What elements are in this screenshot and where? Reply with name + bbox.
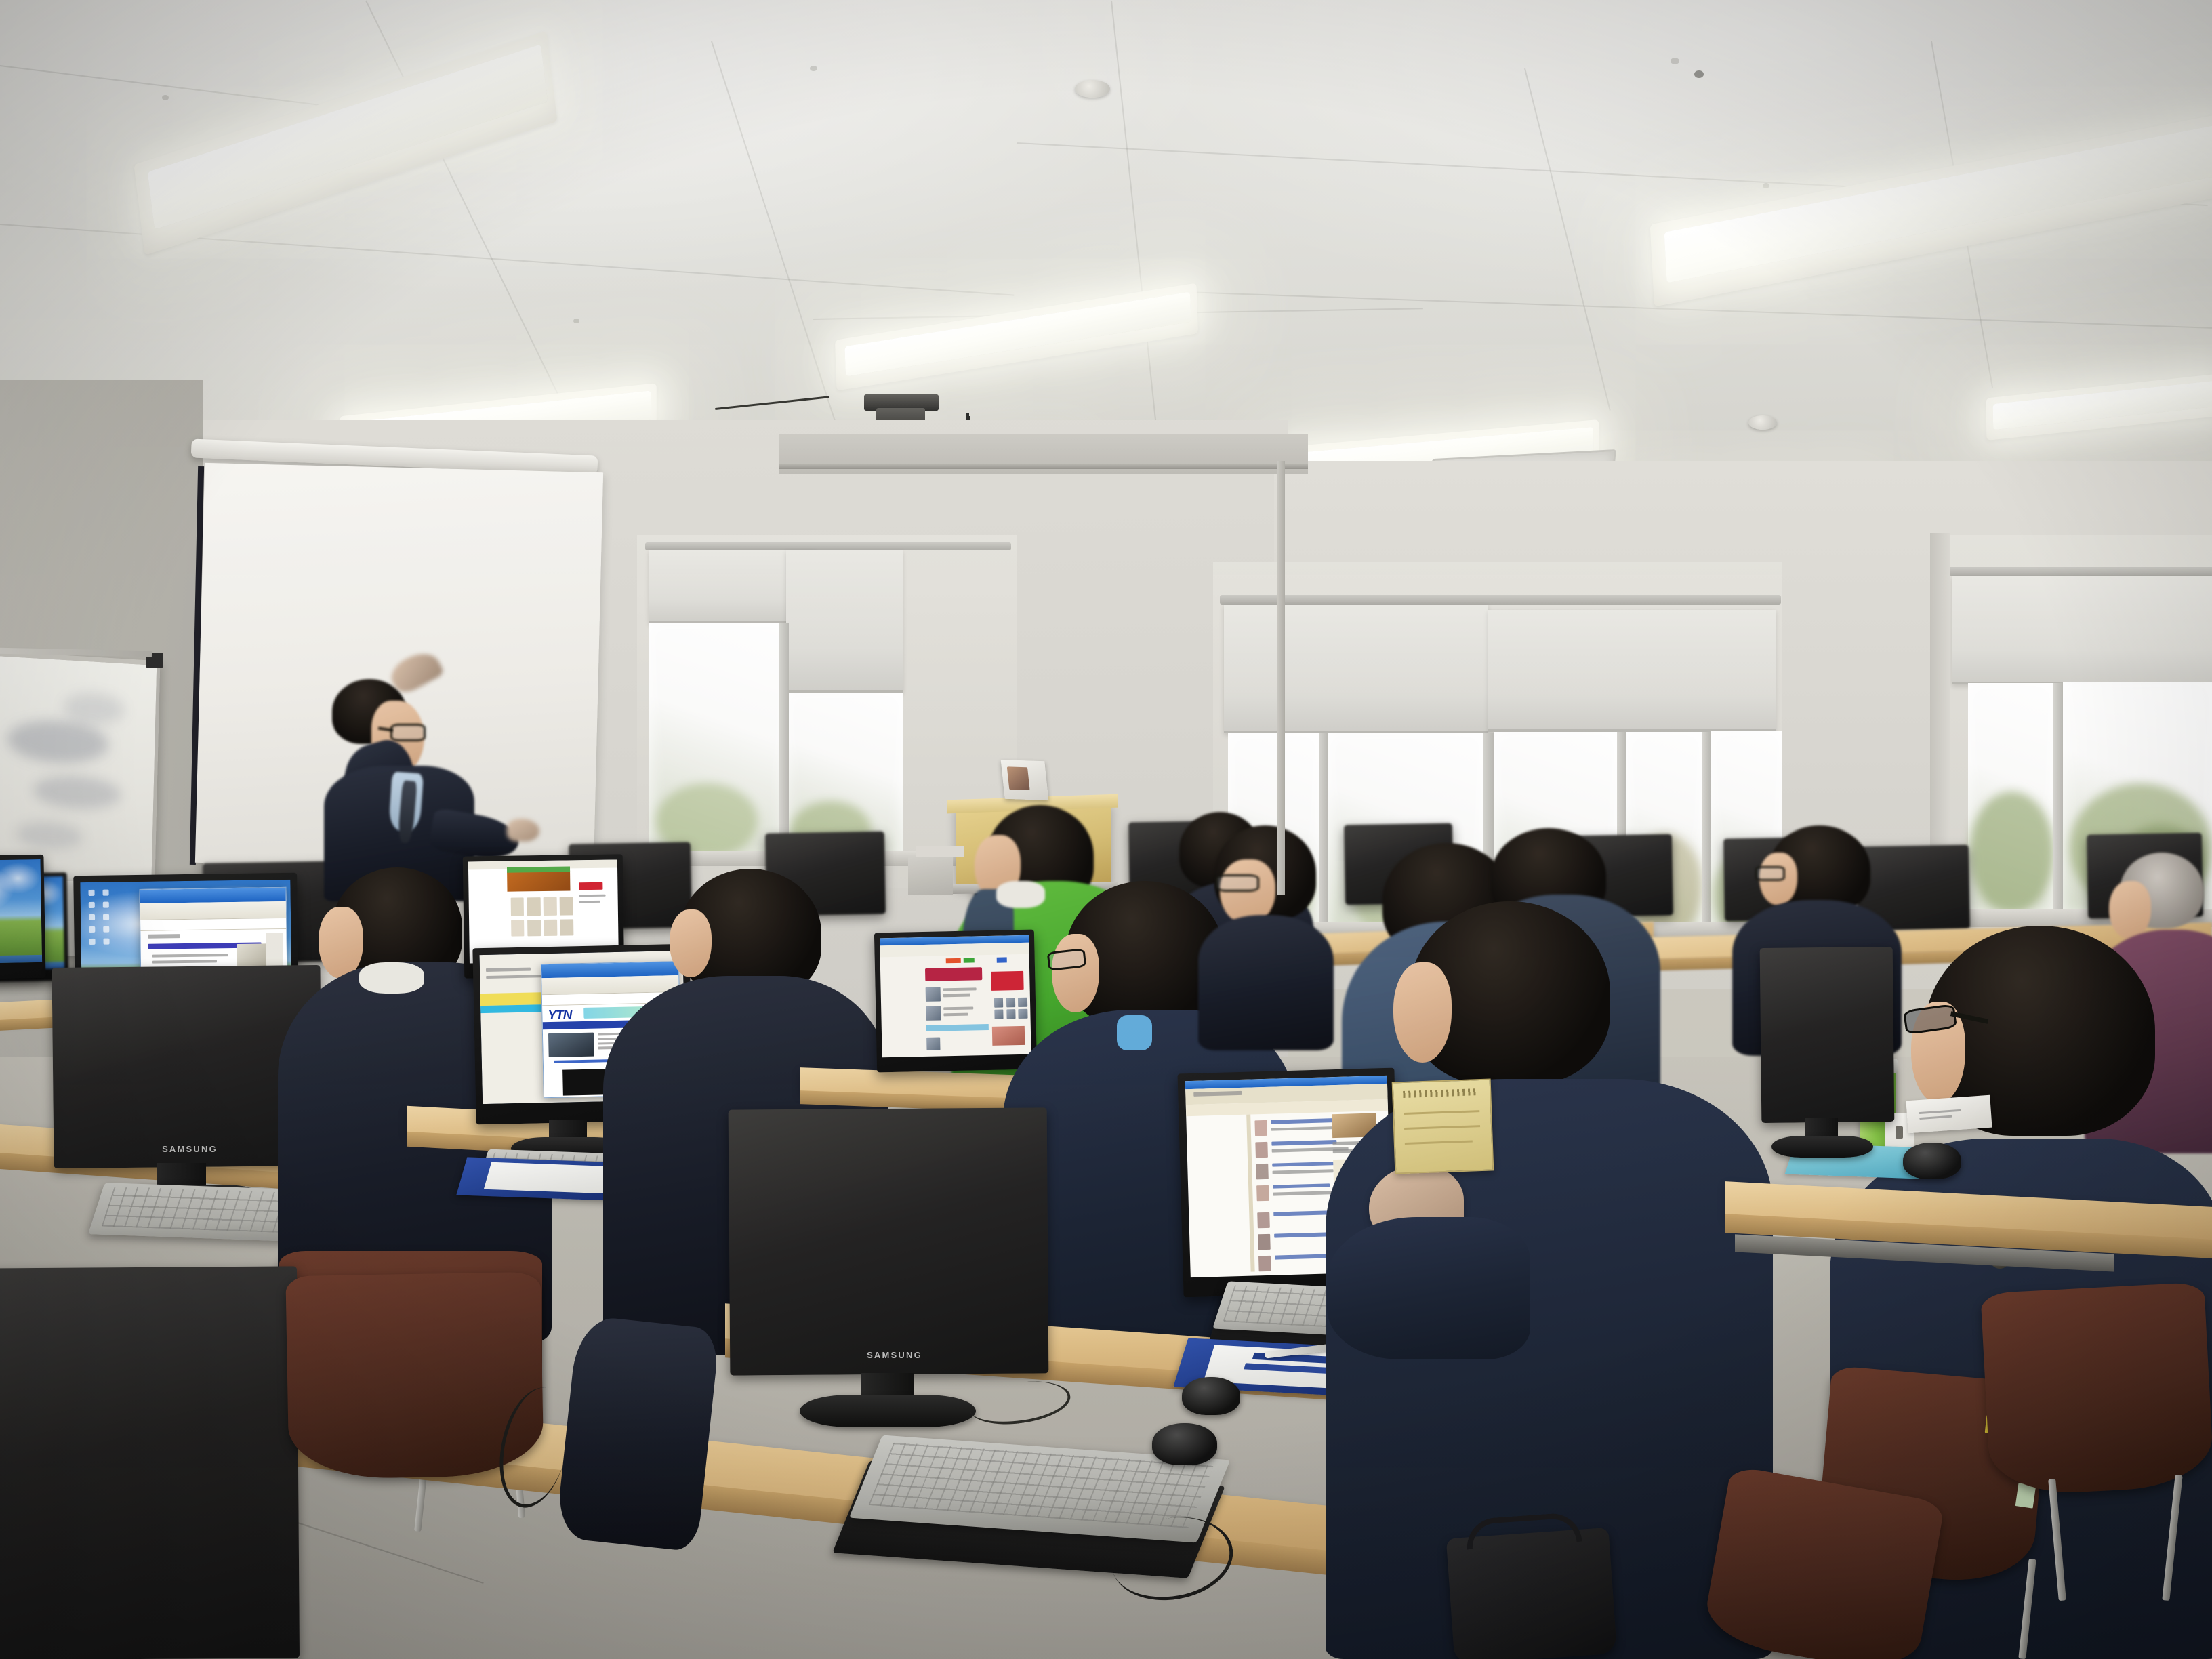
ceiling-speck: [1763, 183, 1769, 188]
window-pane: [649, 623, 785, 862]
monitor-stand-base: [1771, 1136, 1873, 1158]
blind-rail: [1949, 567, 2212, 576]
smoke-detector-icon: [1075, 80, 1110, 98]
blind-rail: [645, 542, 1011, 550]
monitor-foreground-centre-back[interactable]: [729, 1107, 1049, 1375]
lectern-side-panel: [908, 857, 953, 895]
window-mullion: [1702, 732, 1711, 935]
student-face-s2: [670, 909, 712, 977]
smoke-detector-icon: [1748, 415, 1777, 430]
student-face-s1: [319, 907, 363, 979]
student-face: [2109, 881, 2151, 939]
student-arm-s10: [1327, 1217, 1530, 1359]
wall-trim: [779, 464, 1308, 469]
eyeglasses-s5: [1216, 874, 1259, 892]
student-face-s4: [1052, 934, 1099, 1012]
monitor-brand-label: SAMSUNG: [834, 1350, 956, 1360]
ceiling-speck: [1671, 58, 1679, 64]
document-holder[interactable]: [1392, 1078, 1494, 1174]
student-collar: [996, 881, 1045, 908]
window-mullion: [1319, 733, 1328, 937]
student-face-s10: [1393, 962, 1452, 1063]
student-collar-s1: [359, 962, 424, 994]
window-mullion: [779, 623, 789, 867]
monitor-stand-base: [800, 1395, 976, 1427]
window-pane: [1968, 683, 2053, 914]
mouse-foreground-bottom[interactable]: [1152, 1423, 1217, 1465]
mouse-foreground-centre[interactable]: [1182, 1377, 1240, 1415]
chair-far-right[interactable]: [1980, 1282, 2212, 1497]
paper-notes[interactable]: [1906, 1095, 1992, 1134]
classroom-photo: SAMSUNG: [0, 0, 2212, 1659]
roller-blind[interactable]: [1488, 610, 1776, 732]
lectern-side-shelf: [916, 846, 964, 857]
ytn-logo: YTN: [548, 1008, 571, 1024]
instructor-eyeglasses: [390, 724, 426, 741]
monitor-left-row-0[interactable]: [0, 855, 46, 979]
mouse-right-desk[interactable]: [1903, 1143, 1961, 1179]
eyeglasses: [1755, 866, 1785, 881]
ceiling-sensor-icon: [1694, 70, 1704, 78]
student-shirt-collar-s4: [1117, 1015, 1152, 1050]
wall-corner: [1277, 461, 1285, 895]
window-mullion: [2053, 683, 2063, 915]
roller-blind[interactable]: [786, 550, 903, 693]
monitor-foreground-bottom-left[interactable]: [0, 1266, 300, 1659]
ceiling-speck: [573, 319, 579, 323]
ceiling-speck: [810, 66, 817, 71]
blind-rail: [1220, 595, 1781, 605]
monitor-right-foreground[interactable]: [1760, 947, 1895, 1123]
lectern-document: [1001, 760, 1049, 800]
student-legs-s1: [555, 1315, 720, 1552]
ceiling-speck: [162, 95, 169, 100]
shoulder-bag[interactable]: [1446, 1528, 1617, 1659]
instructor-hand: [507, 819, 539, 842]
monitor-brand-label: SAMSUNG: [129, 1144, 251, 1154]
monitor-centre-portal[interactable]: [874, 930, 1037, 1073]
student-body-s5: [1198, 915, 1334, 1050]
roller-blind[interactable]: [1952, 576, 2212, 684]
roller-blind[interactable]: [1224, 605, 1488, 733]
